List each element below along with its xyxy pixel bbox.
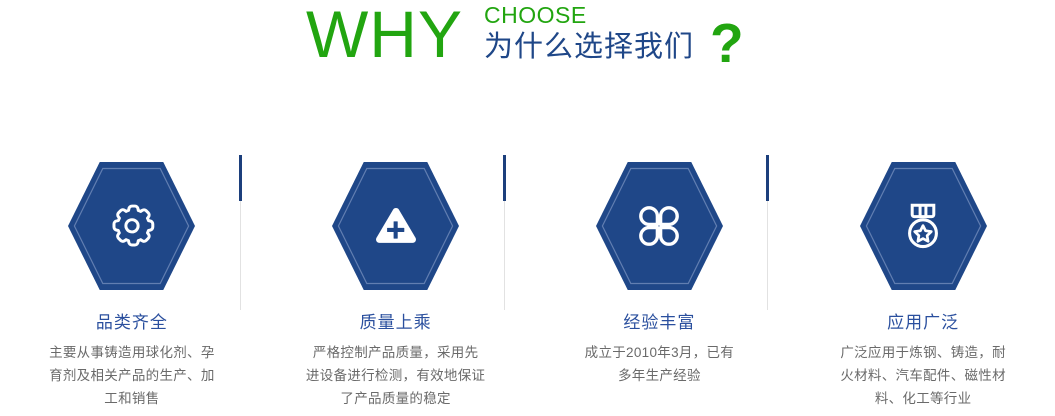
feature-card-2[interactable]: 质量上乘 严格控制产品质量，采用先 进设备进行检测，有效地保证 了产品质量的稳定 bbox=[264, 150, 528, 416]
desc-line: 广泛应用于炼钢、铸造，耐 bbox=[816, 341, 1031, 364]
feature-card-3[interactable]: 经验丰富 成立于2010年3月，已有 多年生产经验 bbox=[528, 150, 792, 416]
divider-dark-segment bbox=[503, 155, 506, 201]
header-question-mark: ? bbox=[710, 14, 744, 72]
feature-card-description: 广泛应用于炼钢、铸造，耐 火材料、汽车配件、磁性材 料、化工等行业 bbox=[816, 341, 1031, 410]
feature-card-title: 应用广泛 bbox=[887, 312, 959, 334]
card-divider bbox=[503, 155, 506, 310]
desc-line: 严格控制产品质量，采用先 bbox=[288, 341, 503, 364]
hexagon-badge-4 bbox=[860, 160, 987, 292]
triangle-plus-icon bbox=[332, 160, 459, 292]
desc-line: 料、化工等行业 bbox=[816, 387, 1031, 410]
feature-card-4[interactable]: 应用广泛 广泛应用于炼钢、铸造，耐 火材料、汽车配件、磁性材 料、化工等行业 bbox=[791, 150, 1055, 416]
section-header: WHY CHOOSE 为什么选择我们 ? bbox=[0, 0, 1055, 90]
feature-card-description: 成立于2010年3月，已有 多年生产经验 bbox=[552, 341, 767, 387]
card-divider bbox=[239, 155, 242, 310]
header-inner: WHY CHOOSE 为什么选择我们 ? bbox=[306, 0, 776, 86]
desc-line: 主要从事铸造用球化剂、孕 bbox=[24, 341, 239, 364]
desc-line: 成立于2010年3月，已有 bbox=[552, 341, 767, 364]
hexagon-badge-2 bbox=[332, 160, 459, 292]
desc-line: 进设备进行检测，有效地保证 bbox=[288, 364, 503, 387]
divider-light-segment bbox=[767, 201, 768, 310]
gear-icon bbox=[68, 160, 195, 292]
feature-card-title: 品类齐全 bbox=[96, 312, 168, 334]
feature-card-title: 经验丰富 bbox=[623, 312, 695, 334]
divider-light-segment bbox=[240, 201, 241, 310]
feature-card-1[interactable]: 品类齐全 主要从事铸造用球化剂、孕 育剂及相关产品的生产、加 工和销售 bbox=[0, 150, 264, 416]
desc-line: 多年生产经验 bbox=[552, 364, 767, 387]
hexagon-badge-3 bbox=[596, 160, 723, 292]
header-why-word: WHY bbox=[306, 0, 463, 70]
medal-icon bbox=[860, 160, 987, 292]
why-choose-us-section: WHY CHOOSE 为什么选择我们 ? 品类齐全 bbox=[0, 0, 1055, 416]
desc-line: 工和销售 bbox=[24, 387, 239, 410]
divider-dark-segment bbox=[766, 155, 769, 201]
feature-card-description: 主要从事铸造用球化剂、孕 育剂及相关产品的生产、加 工和销售 bbox=[24, 341, 239, 410]
feature-card-description: 严格控制产品质量，采用先 进设备进行检测，有效地保证 了产品质量的稳定 bbox=[288, 341, 503, 410]
four-petal-clover-icon bbox=[596, 160, 723, 292]
hexagon-badge-1 bbox=[68, 160, 195, 292]
desc-line: 火材料、汽车配件、磁性材 bbox=[816, 364, 1031, 387]
feature-card-title: 质量上乘 bbox=[360, 312, 432, 334]
divider-light-segment bbox=[504, 201, 505, 310]
desc-line: 育剂及相关产品的生产、加 bbox=[24, 364, 239, 387]
divider-dark-segment bbox=[239, 155, 242, 201]
header-subtitle-cn: 为什么选择我们 bbox=[484, 29, 694, 65]
feature-cards-row: 品类齐全 主要从事铸造用球化剂、孕 育剂及相关产品的生产、加 工和销售 bbox=[0, 150, 1055, 416]
desc-line: 了产品质量的稳定 bbox=[288, 387, 503, 410]
card-divider bbox=[766, 155, 769, 310]
header-choose-word: CHOOSE bbox=[484, 2, 587, 28]
